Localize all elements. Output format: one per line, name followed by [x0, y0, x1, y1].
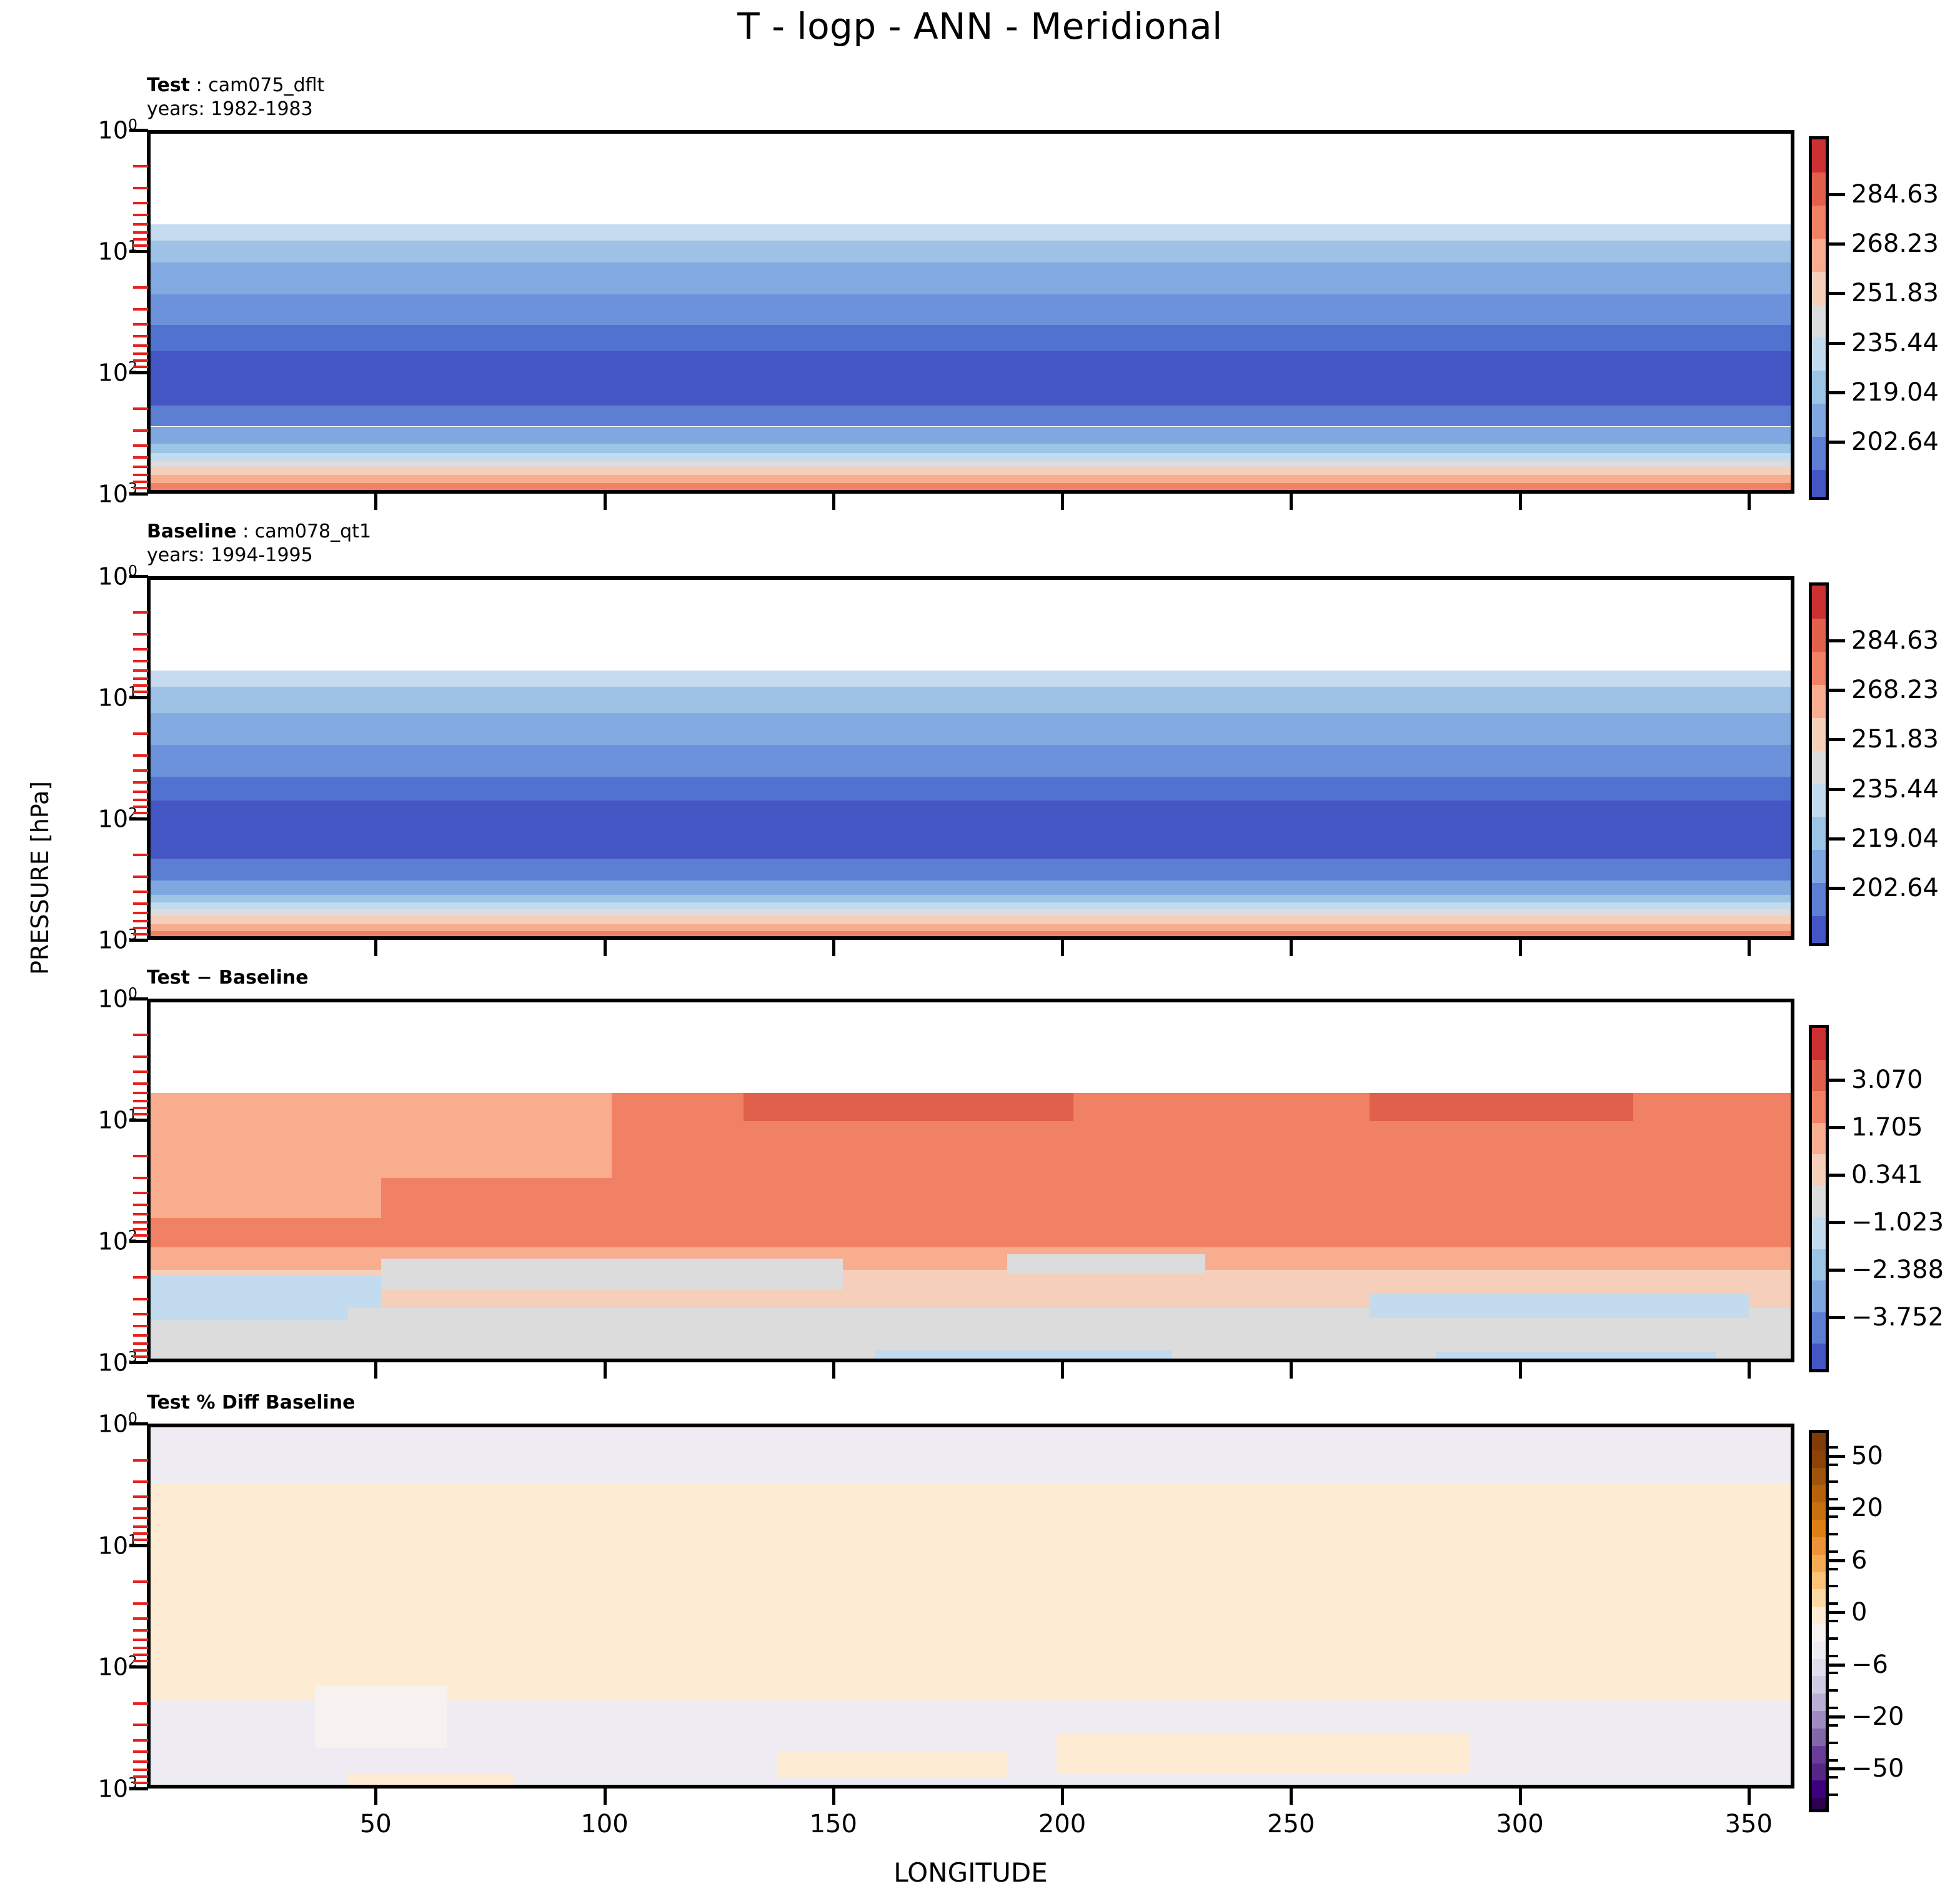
- x-axis-tick: [832, 1789, 835, 1805]
- colorbar-tick: [1829, 342, 1845, 345]
- colorbar-tick-label: 251.83: [1851, 279, 1939, 307]
- x-axis-tick: [1519, 1789, 1522, 1805]
- page-title: T - logp - ANN - Meridional: [0, 5, 1960, 47]
- colorbar-tick-label: 50: [1851, 1442, 1883, 1470]
- y-axis-minor-tick: [133, 1298, 148, 1300]
- colorbar-segment: [1812, 619, 1826, 652]
- colorbar-segment: [1812, 404, 1826, 437]
- y-tick-base: 10: [98, 1532, 128, 1559]
- x-axis-tick: [604, 1789, 607, 1805]
- y-axis-minor-tick: [133, 876, 148, 878]
- x-axis-tick-label: 250: [1267, 1810, 1315, 1839]
- y-axis-tick-label: 101: [44, 684, 137, 712]
- y-axis-major-tick: [129, 1787, 148, 1790]
- colorbar-test[interactable]: [1809, 136, 1829, 500]
- x-axis-tick-label: 50: [360, 1810, 392, 1839]
- x-axis-tick: [374, 940, 377, 956]
- y-axis-major-tick: [129, 997, 148, 1000]
- colorbar-tick: [1829, 242, 1845, 246]
- y-axis-major-tick: [129, 492, 148, 496]
- colorbar-segment: [1812, 1249, 1826, 1282]
- x-axis-tick-label: 350: [1725, 1810, 1773, 1839]
- x-axis-tick-label: 300: [1496, 1810, 1543, 1839]
- colorbar-segment: [1812, 337, 1826, 371]
- colorbar-segment: [1812, 1468, 1826, 1486]
- colorbar-tick-label: −6: [1851, 1650, 1888, 1679]
- colorbar-minor-tick: [1829, 1724, 1838, 1727]
- panel-header-difference: Test − Baseline: [147, 966, 309, 990]
- y-axis-minor-tick: [133, 1647, 148, 1649]
- y-axis-minor-tick: [133, 323, 148, 326]
- y-axis-tick-label: 101: [44, 237, 137, 266]
- colorbar-tick: [1829, 788, 1845, 791]
- colorbar-segment: [1812, 172, 1826, 206]
- colorbar-tick: [1829, 441, 1845, 444]
- plot-area-test[interactable]: [147, 130, 1794, 494]
- plot-area-baseline[interactable]: [147, 576, 1794, 940]
- y-axis-tick-label: 101: [44, 1531, 137, 1559]
- contour-region: [348, 1774, 513, 1789]
- colorbar-tick: [1829, 391, 1845, 394]
- y-axis-minor-tick: [133, 1539, 148, 1541]
- colorbar-percent-difference[interactable]: [1809, 1430, 1829, 1812]
- colorbar-segment: [1812, 305, 1826, 339]
- colorbar-segment: [1812, 883, 1826, 917]
- y-axis-minor-tick: [133, 1580, 148, 1583]
- colorbar-minor-tick: [1829, 1794, 1838, 1796]
- y-axis-tick-label: 102: [44, 805, 137, 833]
- x-axis-tick: [604, 494, 607, 510]
- y-axis-minor-tick: [133, 1113, 148, 1115]
- y-axis-minor-tick: [133, 202, 148, 204]
- y-axis-minor-tick: [133, 456, 148, 459]
- x-axis-tick: [1061, 940, 1064, 956]
- colorbar-segment: [1812, 1642, 1826, 1660]
- colorbar-tick-label: 3.070: [1851, 1065, 1923, 1094]
- y-axis-minor-tick: [133, 214, 148, 216]
- colorbar-segment: [1812, 1312, 1826, 1345]
- colorbar-tick-label: 20: [1851, 1494, 1883, 1522]
- colorbar-tick-label: 202.64: [1851, 427, 1939, 456]
- x-axis-tick: [1519, 1362, 1522, 1379]
- contour-region: [1436, 1352, 1716, 1362]
- colorbar-segment: [1812, 1091, 1826, 1124]
- colorbar-tick: [1829, 1316, 1845, 1319]
- y-axis-tick-label: 103: [44, 1775, 137, 1803]
- contour-region: [530, 1717, 744, 1789]
- y-axis-minor-tick: [133, 1342, 148, 1345]
- colorbar-tick: [1829, 292, 1845, 295]
- colorbar-segment: [1812, 1711, 1826, 1729]
- colorbar-minor-tick: [1829, 1637, 1838, 1640]
- y-axis-minor-tick: [133, 444, 148, 447]
- x-axis-tick: [1061, 1362, 1064, 1379]
- colorbar-tick-label: −2.388: [1851, 1255, 1944, 1284]
- y-axis-minor-tick: [133, 308, 148, 311]
- y-axis-minor-tick: [133, 481, 148, 483]
- y-axis-tick-label: 103: [44, 480, 137, 508]
- contour-band: [151, 475, 1791, 483]
- y-axis-minor-tick: [133, 1602, 148, 1605]
- contour-band: [151, 939, 1791, 940]
- contour-region: [875, 1350, 1172, 1362]
- contour-band: [151, 924, 1791, 931]
- y-tick-base: 10: [98, 1349, 128, 1376]
- y-axis-minor-tick: [133, 791, 148, 793]
- colorbar-segment: [1812, 1217, 1826, 1250]
- colorbar-minor-tick: [1829, 1707, 1838, 1709]
- panel-years-test: years: 1982-1983: [147, 97, 324, 121]
- y-axis-minor-tick: [133, 1355, 148, 1358]
- y-axis-minor-tick: [133, 691, 148, 693]
- colorbar-tick-label: 219.04: [1851, 378, 1939, 407]
- y-axis-minor-tick: [133, 927, 148, 929]
- panel-case-baseline: : cam078_qt1: [237, 521, 371, 542]
- y-axis-minor-tick: [133, 487, 148, 489]
- y-axis-minor-tick: [133, 669, 148, 672]
- y-axis-major-tick: [129, 1665, 148, 1669]
- x-axis-tick: [1290, 940, 1293, 956]
- colorbar-tick-label: −3.752: [1851, 1303, 1944, 1332]
- colorbar-segment: [1812, 272, 1826, 306]
- colorbar-minor-tick: [1829, 1655, 1838, 1657]
- y-tick-base: 10: [98, 684, 128, 711]
- colorbar-minor-tick: [1829, 1498, 1838, 1500]
- y-axis-minor-tick: [133, 1532, 148, 1535]
- colorbar-segment: [1812, 206, 1826, 239]
- contour-band: [151, 859, 1791, 880]
- colorbar-minor-tick: [1829, 1533, 1838, 1535]
- y-axis-minor-tick: [133, 359, 148, 362]
- colorbar-segment: [1812, 1798, 1826, 1812]
- contour-band: [151, 881, 1791, 895]
- colorbar-tick: [1829, 1715, 1845, 1719]
- y-tick-base: 10: [98, 805, 128, 832]
- plot-area-percent-difference[interactable]: [147, 1424, 1794, 1789]
- colorbar-tick: [1829, 1079, 1845, 1082]
- x-axis-tick: [1061, 494, 1064, 510]
- colorbar-tick: [1829, 689, 1845, 692]
- y-axis-minor-tick: [133, 1082, 148, 1085]
- colorbar-segment: [1812, 1624, 1826, 1642]
- y-axis-minor-tick: [133, 335, 148, 337]
- colorbar-tick: [1829, 1221, 1845, 1224]
- colorbar-minor-tick: [1829, 1742, 1838, 1744]
- y-axis-minor-tick: [133, 1724, 148, 1726]
- y-axis-minor-tick: [133, 1276, 148, 1279]
- colorbar-segment: [1812, 1764, 1826, 1782]
- colorbar-minor-tick: [1829, 1515, 1838, 1518]
- x-axis-tick: [1519, 494, 1522, 510]
- colorbar-tick-label: 268.23: [1851, 229, 1939, 258]
- contour-band: [151, 224, 1791, 241]
- colorbar-tick: [1829, 1126, 1845, 1129]
- contour-band: [151, 351, 1791, 406]
- colorbar-minor-tick: [1829, 1585, 1838, 1587]
- colorbar-segment: [1812, 1780, 1826, 1799]
- y-axis-minor-tick: [133, 648, 148, 651]
- colorbar-minor-tick: [1829, 1568, 1838, 1570]
- y-axis-minor-tick: [133, 1629, 148, 1632]
- colorbar-segment: [1812, 718, 1826, 752]
- y-axis-major-tick: [129, 129, 148, 132]
- contour-band: [151, 801, 1791, 859]
- y-axis-major-tick: [129, 1544, 148, 1547]
- x-axis-tick: [1290, 1362, 1293, 1379]
- colorbar-segment: [1812, 817, 1826, 851]
- y-axis-minor-tick: [133, 1234, 148, 1237]
- x-axis-tick: [1290, 494, 1293, 510]
- y-axis-minor-tick: [133, 1213, 148, 1215]
- colorbar-tick: [1829, 1174, 1845, 1177]
- colorbar-tick-label: 251.83: [1851, 725, 1939, 754]
- colorbar-tick-label: 0.341: [1851, 1160, 1923, 1189]
- contour-band: [151, 294, 1791, 326]
- colorbar-tick-label: 202.64: [1851, 874, 1939, 902]
- colorbar-segment: [1812, 1607, 1826, 1625]
- y-axis-minor-tick: [133, 244, 148, 247]
- panel-header-baseline: Baseline : cam078_qt1years: 1994-1995: [147, 520, 371, 568]
- colorbar-tick: [1829, 738, 1845, 741]
- colorbar-minor-tick: [1829, 1776, 1838, 1779]
- y-axis-minor-tick: [133, 611, 148, 614]
- y-axis-minor-tick: [133, 1092, 148, 1094]
- y-axis-minor-tick: [133, 286, 148, 289]
- x-axis-tick: [1061, 1789, 1064, 1805]
- y-axis-minor-tick: [133, 1349, 148, 1352]
- y-axis-minor-tick: [133, 1228, 148, 1230]
- colorbar-tick-label: 1.705: [1851, 1113, 1923, 1142]
- colorbar-tick-label: 6: [1851, 1546, 1867, 1575]
- contour-band: [151, 1427, 1791, 1484]
- contour-band: [151, 916, 1791, 924]
- colorbar-segment: [1812, 1344, 1826, 1372]
- contour-band: [151, 427, 1791, 444]
- y-axis-minor-tick: [133, 912, 148, 914]
- colorbar-segment: [1812, 1280, 1826, 1313]
- panel-case-test: : cam075_dflt: [190, 74, 324, 96]
- y-axis-major-tick: [129, 575, 148, 578]
- colorbar-segment: [1812, 1154, 1826, 1187]
- y-axis-minor-tick: [133, 684, 148, 687]
- y-axis-minor-tick: [133, 1100, 148, 1102]
- contour-band: [151, 777, 1791, 801]
- y-axis-minor-tick: [133, 1739, 148, 1742]
- colorbar-segment: [1812, 652, 1826, 686]
- colorbar-minor-tick: [1829, 1689, 1838, 1692]
- y-axis-minor-tick: [133, 799, 148, 801]
- y-axis-minor-tick: [133, 812, 148, 814]
- colorbar-minor-tick: [1829, 1759, 1838, 1762]
- colorbar-segment: [1812, 1060, 1826, 1092]
- x-axis-tick-label: 200: [1038, 1810, 1086, 1839]
- colorbar-segment: [1812, 1186, 1826, 1219]
- y-axis-tick-label: 100: [44, 985, 137, 1013]
- colorbar-tick: [1829, 1507, 1845, 1510]
- colorbar-segment: [1812, 1433, 1826, 1451]
- contour-band: [151, 902, 1791, 909]
- colorbar-segment: [1812, 1028, 1826, 1060]
- y-axis-minor-tick: [133, 769, 148, 772]
- y-axis-minor-tick: [133, 1192, 148, 1194]
- colorbar-minor-tick: [1829, 1672, 1838, 1674]
- y-axis-minor-tick: [133, 231, 148, 234]
- y-axis-minor-tick: [133, 1221, 148, 1224]
- contour-band: [151, 262, 1791, 294]
- colorbar-segment: [1812, 1572, 1826, 1590]
- x-axis-tick: [1748, 1362, 1751, 1379]
- x-axis-tick: [832, 1362, 835, 1379]
- y-axis-tick-label: 102: [44, 359, 137, 387]
- colorbar-minor-tick: [1829, 1620, 1838, 1622]
- colorbar-baseline[interactable]: [1809, 582, 1829, 946]
- y-axis-minor-tick: [133, 1334, 148, 1337]
- y-axis-minor-tick: [133, 633, 148, 636]
- colorbar-segment: [1812, 1123, 1826, 1155]
- contour-region: [1057, 1734, 1468, 1774]
- y-axis-minor-tick: [133, 754, 148, 757]
- y-axis-minor-tick: [133, 1507, 148, 1510]
- y-axis-minor-tick: [133, 902, 148, 905]
- contour-region: [1007, 1254, 1205, 1274]
- y-axis-minor-tick: [133, 474, 148, 476]
- x-axis-tick-label: 100: [580, 1810, 628, 1839]
- y-axis-minor-tick: [133, 891, 148, 893]
- y-axis-minor-tick: [133, 1480, 148, 1483]
- y-tick-base: 10: [98, 359, 128, 386]
- colorbar-segment: [1812, 1450, 1826, 1469]
- contour-band: [151, 467, 1791, 475]
- y-axis-tick-label: 100: [44, 1410, 137, 1438]
- x-axis-tick: [1748, 1789, 1751, 1805]
- contour-band: [151, 895, 1791, 902]
- contour-region: [151, 1276, 348, 1320]
- colorbar-segment: [1812, 1729, 1826, 1747]
- y-axis-minor-tick: [133, 1702, 148, 1705]
- plot-area-difference[interactable]: [147, 999, 1794, 1362]
- colorbar-segment: [1812, 1485, 1826, 1503]
- y-axis-minor-tick: [133, 1660, 148, 1662]
- colorbar-tick-label: 268.23: [1851, 676, 1939, 704]
- contour-band: [151, 713, 1791, 745]
- contour-band: [151, 687, 1791, 713]
- y-tick-base: 10: [98, 237, 128, 265]
- colorbar-segment: [1812, 1537, 1826, 1555]
- y-axis-minor-tick: [133, 933, 148, 936]
- x-axis-tick: [832, 494, 835, 510]
- y-axis-minor-tick: [133, 1775, 148, 1778]
- panel-header-test: Test : cam075_dfltyears: 1982-1983: [147, 74, 324, 122]
- y-tick-base: 10: [98, 562, 128, 590]
- colorbar-tick-label: 284.63: [1851, 180, 1939, 209]
- y-axis-major-tick: [129, 1119, 148, 1122]
- colorbar-minor-tick: [1829, 1602, 1838, 1605]
- contour-region: [1370, 1293, 1749, 1318]
- y-axis-minor-tick: [133, 1034, 148, 1036]
- y-tick-base: 10: [98, 1775, 128, 1802]
- colorbar-tick: [1829, 1455, 1845, 1458]
- y-axis-tick-label: 102: [44, 1653, 137, 1681]
- y-axis-major-tick: [129, 250, 148, 253]
- contour-band: [151, 461, 1791, 467]
- y-axis-minor-tick: [133, 732, 148, 735]
- panel-title-baseline: Baseline: [147, 521, 237, 542]
- contour-region: [777, 1752, 1007, 1778]
- y-axis-minor-tick: [133, 366, 148, 368]
- colorbar-minor-tick: [1829, 1464, 1838, 1466]
- colorbar-segment: [1812, 1555, 1826, 1573]
- colorbar-segment: [1812, 1589, 1826, 1607]
- y-axis-minor-tick: [133, 677, 148, 680]
- colorbar-segment: [1812, 1520, 1826, 1538]
- x-axis-tick: [1519, 940, 1522, 956]
- y-axis-minor-tick: [133, 1760, 148, 1763]
- contour-region: [381, 1259, 842, 1290]
- contour-band: [151, 483, 1791, 492]
- y-axis-minor-tick: [133, 466, 148, 468]
- x-axis-label: LONGITUDE: [893, 1857, 1048, 1888]
- y-axis-minor-tick: [133, 920, 148, 922]
- y-axis-tick-label: 103: [44, 926, 137, 954]
- contour-region: [1337, 1121, 1794, 1245]
- contour-region: [744, 1093, 1073, 1121]
- y-tick-base: 10: [98, 116, 128, 144]
- y-axis-minor-tick: [133, 1204, 148, 1206]
- colorbar-tick: [1829, 1269, 1845, 1272]
- contour-band: [151, 453, 1791, 461]
- y-axis-minor-tick: [133, 429, 148, 432]
- panel-title-test: Test: [147, 74, 190, 96]
- colorbar-tick-label: 0: [1851, 1598, 1867, 1627]
- colorbar-segment: [1812, 1676, 1826, 1694]
- x-axis-tick: [1748, 940, 1751, 956]
- colorbar-tick-label: 235.44: [1851, 775, 1939, 804]
- colorbar-segment: [1812, 784, 1826, 817]
- colorbar-segment: [1812, 371, 1826, 404]
- y-axis-minor-tick: [133, 854, 148, 856]
- y-tick-base: 10: [98, 1227, 128, 1255]
- y-axis-minor-tick: [133, 1155, 148, 1157]
- y-axis-minor-tick: [133, 1525, 148, 1528]
- y-axis-minor-tick: [133, 1325, 148, 1327]
- colorbar-segment: [1812, 239, 1826, 272]
- y-tick-base: 10: [98, 480, 128, 507]
- contour-region: [151, 1093, 381, 1218]
- x-axis-tick: [1290, 1789, 1293, 1805]
- colorbar-difference[interactable]: [1809, 1025, 1829, 1372]
- colorbar-minor-tick: [1829, 1480, 1838, 1483]
- y-axis-major-tick: [129, 696, 148, 699]
- y-axis-tick-label: 102: [44, 1227, 137, 1255]
- colorbar-segment: [1812, 850, 1826, 884]
- colorbar-segment: [1812, 437, 1826, 471]
- panel-title-difference: Test − Baseline: [147, 967, 309, 989]
- y-axis-tick-label: 103: [44, 1349, 137, 1377]
- panel-header-percent-difference: Test % Diff Baseline: [147, 1391, 356, 1415]
- y-axis-tick-label: 100: [44, 562, 137, 591]
- x-axis-tick: [604, 1362, 607, 1379]
- y-axis-minor-tick: [133, 187, 148, 189]
- y-axis-minor-tick: [133, 223, 148, 226]
- colorbar-tick: [1829, 1559, 1845, 1562]
- y-axis-minor-tick: [133, 1107, 148, 1109]
- y-axis-minor-tick: [133, 1769, 148, 1771]
- colorbar-tick-label: −1.023: [1851, 1208, 1944, 1237]
- colorbar-minor-tick: [1829, 1550, 1838, 1553]
- x-axis-tick: [832, 940, 835, 956]
- colorbar-tick-label: 284.63: [1851, 626, 1939, 655]
- y-axis-minor-tick: [133, 1517, 148, 1519]
